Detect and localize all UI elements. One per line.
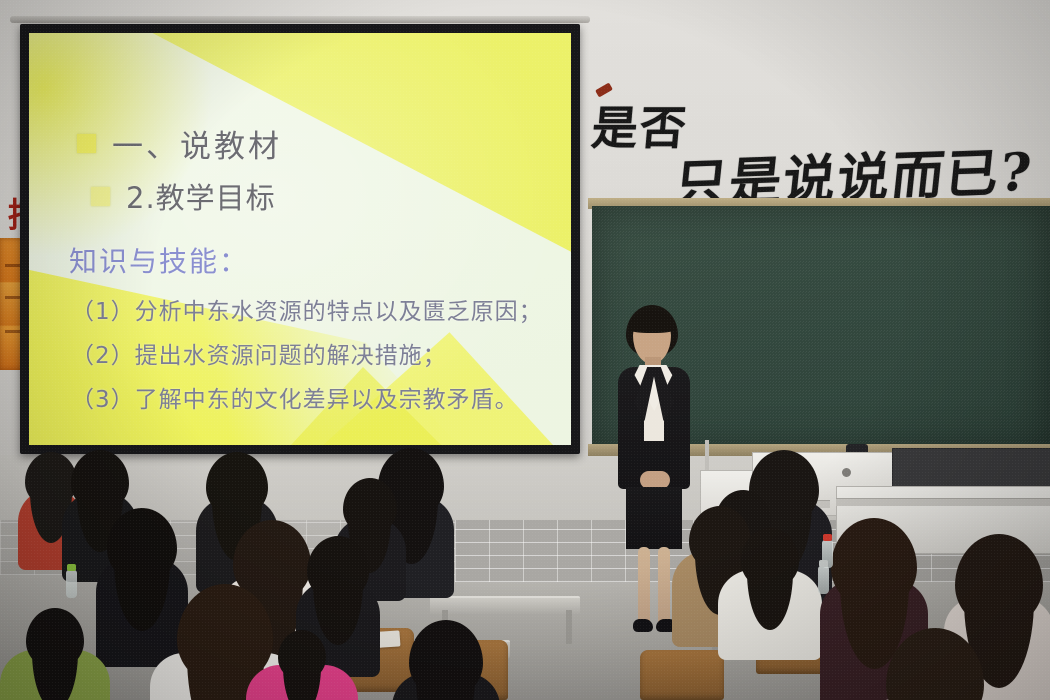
bullet-square-icon xyxy=(91,187,110,206)
person-head xyxy=(107,508,177,581)
cabinet-rail-right xyxy=(836,498,1050,506)
bullet-square-icon xyxy=(77,134,96,153)
slide-content: 一、说教材 2.教学目标 知识与技能： （1）分析中东水资源的特点以及匮乏原因；… xyxy=(29,33,571,445)
slide-heading-row-2: 2.教学目标 xyxy=(91,175,276,217)
cabinet-knob xyxy=(842,468,851,477)
bottle-cap xyxy=(819,560,828,567)
slide-heading-2: 2.教学目标 xyxy=(126,175,276,217)
screen-mount-rail xyxy=(10,16,590,23)
classroom-photo: 是否 只是说说而已? 描 一、说教材 2.教学目标 xyxy=(0,0,1050,700)
teacher-leg-right xyxy=(658,547,670,625)
desk-leg xyxy=(566,610,572,644)
slide-body-line-3: （3）了解中东的文化差异以及宗教矛盾。 xyxy=(71,380,519,414)
wall-calligraphy-line-1: 是否 xyxy=(589,92,691,158)
slide-subheading: 知识与技能： xyxy=(69,240,249,280)
slide-heading-1: 一、说教材 xyxy=(112,121,282,166)
water-bottle-clear xyxy=(818,566,829,594)
person-head xyxy=(741,528,799,588)
slide-heading-row-1: 一、说教材 xyxy=(77,121,282,166)
teacher-leg-left xyxy=(638,547,650,625)
slide-body-line-2: （2）提出水资源问题的解决措施； xyxy=(71,336,447,370)
person-head xyxy=(25,452,77,506)
person-head xyxy=(307,536,369,600)
chair-back xyxy=(640,650,724,700)
teacher-skirt xyxy=(626,487,682,549)
bottle-cap xyxy=(823,534,832,541)
bottle-cap xyxy=(67,564,76,571)
projection-screen-frame: 一、说教材 2.教学目标 知识与技能： （1）分析中东水资源的特点以及匮乏原因；… xyxy=(20,24,580,454)
water-bottle-green-cap xyxy=(66,570,77,598)
person-head xyxy=(409,620,483,697)
person-head xyxy=(206,452,268,516)
person-head xyxy=(26,608,84,668)
person-head xyxy=(278,630,326,680)
projection-screen-surface: 一、说教材 2.教学目标 知识与技能： （1）分析中东水资源的特点以及匮乏原因；… xyxy=(29,33,571,445)
desk-row-back xyxy=(430,596,580,614)
slide-body-line-1: （1）分析中东水资源的特点以及匮乏原因； xyxy=(71,292,543,326)
teacher-shoe-left xyxy=(633,619,653,632)
person-head xyxy=(71,450,129,510)
person-head xyxy=(831,518,917,607)
person-head xyxy=(343,478,397,534)
person-head xyxy=(955,534,1043,626)
